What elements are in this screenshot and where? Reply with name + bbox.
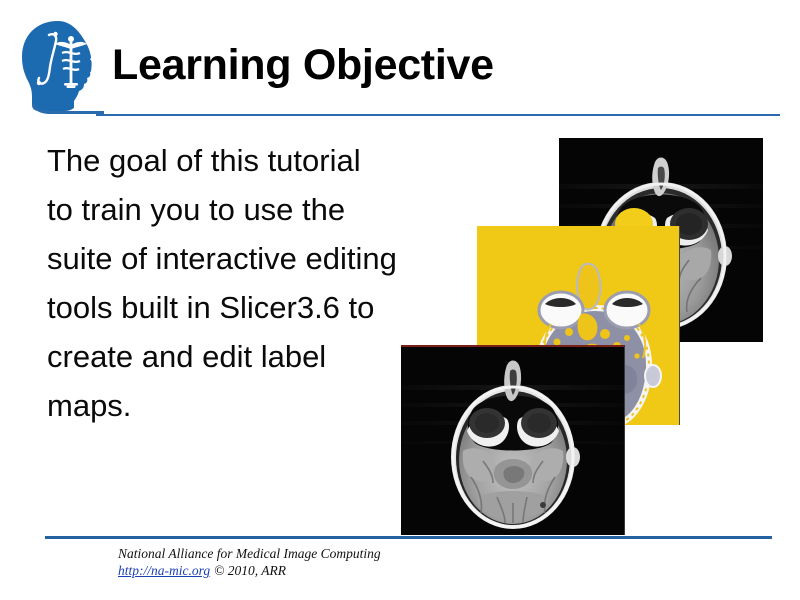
page-title: Learning Objective [112, 44, 494, 87]
body-text: The goal of this tutorial to train you t… [47, 136, 457, 430]
footer-copyright: © 2010, ARR [214, 563, 286, 578]
header-divider [96, 114, 780, 116]
footer-credits: http://na-mic.org© 2010, ARR [118, 563, 381, 579]
na-mic-url-link[interactable]: http://na-mic.org [118, 563, 210, 578]
slide-canvas: Learning Objective The goal of this tuto… [0, 0, 800, 600]
footer: National Alliance for Medical Image Comp… [118, 546, 381, 579]
footer-divider [45, 536, 772, 539]
axial-mri-grayscale-image [401, 345, 625, 535]
na-mic-logo-icon [18, 19, 104, 117]
footer-organization: National Alliance for Medical Image Comp… [118, 546, 381, 562]
